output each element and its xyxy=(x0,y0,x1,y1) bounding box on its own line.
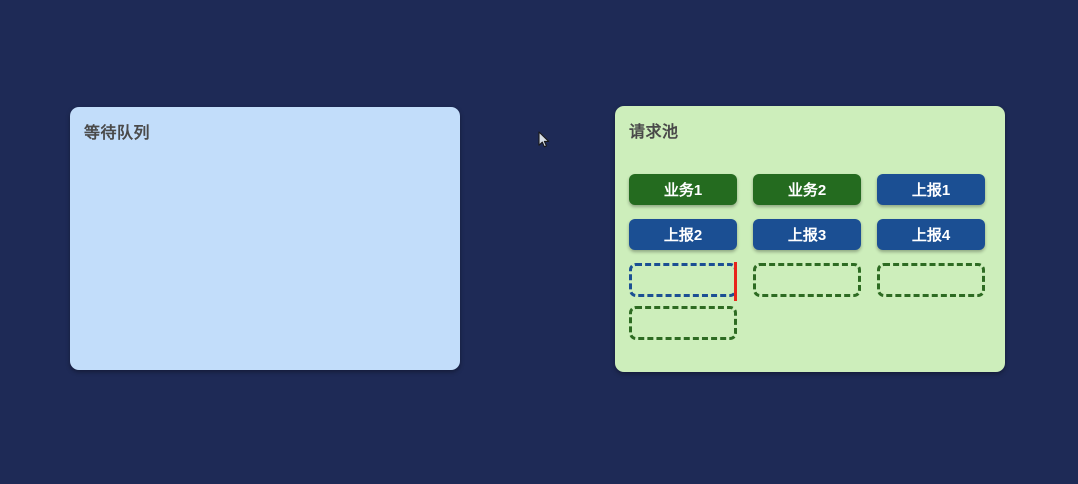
placeholder-slot-blue[interactable] xyxy=(629,263,737,297)
drop-insertion-caret xyxy=(734,262,737,301)
placeholder-row xyxy=(629,306,991,337)
placeholder-slot-green[interactable] xyxy=(753,263,861,297)
chip-shangbao2[interactable]: 上报2 xyxy=(629,219,737,250)
arrow-cursor-icon xyxy=(538,131,550,149)
waiting-queue-title: 等待队列 xyxy=(84,119,150,143)
chip-row: 上报2 上报3 上报4 xyxy=(629,219,991,250)
chip-shangbao3[interactable]: 上报3 xyxy=(753,219,861,250)
chip-yewu1[interactable]: 业务1 xyxy=(629,174,737,205)
request-pool-title: 请求池 xyxy=(629,118,679,142)
chip-shangbao4[interactable]: 上报4 xyxy=(877,219,985,250)
chip-yewu2[interactable]: 业务2 xyxy=(753,174,861,205)
canvas-stage: 等待队列 请求池 业务1 业务2 上报1 上报2 上报3 上报4 xyxy=(0,0,1078,484)
chip-shangbao1[interactable]: 上报1 xyxy=(877,174,985,205)
placeholder-slot-green[interactable] xyxy=(877,263,985,297)
placeholder-row xyxy=(629,263,991,294)
request-pool-panel[interactable]: 请求池 业务1 业务2 上报1 上报2 上报3 上报4 xyxy=(615,106,1005,372)
chip-row: 业务1 业务2 上报1 xyxy=(629,174,991,205)
waiting-queue-panel[interactable]: 等待队列 xyxy=(70,107,460,370)
waiting-queue-dropzone[interactable] xyxy=(70,153,460,370)
request-pool-dropzone[interactable]: 业务1 业务2 上报1 上报2 上报3 上报4 xyxy=(615,152,1005,372)
placeholder-slot-green[interactable] xyxy=(629,306,737,340)
